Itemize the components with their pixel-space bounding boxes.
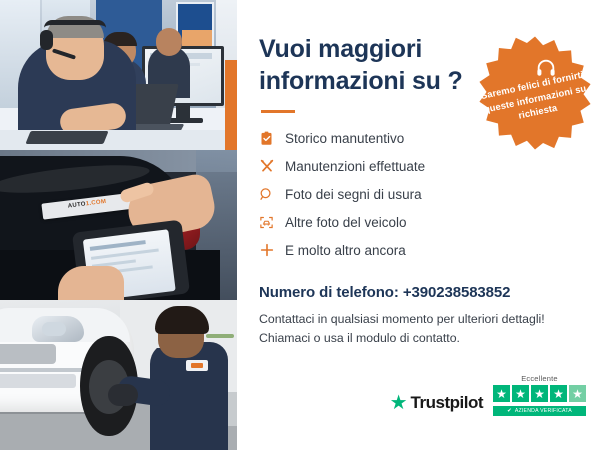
contact-subcopy-line-1: Contattaci in qualsiasi momento per ulte… <box>259 310 578 329</box>
content-panel: Vuoi maggiori informazioni su ? Storico … <box>237 0 600 450</box>
feature-label: Storico manutentivo <box>285 131 404 146</box>
rating-star: ★ <box>512 385 529 402</box>
trustpilot-wordmark: Trustpilot <box>411 393 483 413</box>
magnifier-icon <box>259 187 285 202</box>
clipboard-check-icon <box>259 131 285 146</box>
trustpilot-star-rating: ★ ★ ★ ★ ★ <box>493 385 586 402</box>
rating-star: ★ <box>493 385 510 402</box>
feature-label: Foto dei segni di usura <box>285 187 422 202</box>
rating-star-half: ★ <box>569 385 586 402</box>
feature-item-molto-altro: E molto altro ancora <box>259 236 578 264</box>
feature-label: Manutenzioni effettuate <box>285 159 425 174</box>
photo-frame-car-icon <box>259 215 285 230</box>
trustpilot-logo: ★ Trustpilot <box>390 393 483 416</box>
verified-business-badge: ✔ AZIENDA VERIFICATA <box>493 406 586 416</box>
trustpilot-widget[interactable]: ★ Trustpilot Eccellente ★ ★ ★ ★ ★ ✔ AZIE… <box>390 374 586 416</box>
verified-label: AZIENDA VERIFICATA <box>515 408 572 414</box>
verified-check-icon: ✔ <box>507 408 512 414</box>
title-underline-rule <box>261 110 295 113</box>
rating-star: ★ <box>531 385 548 402</box>
feature-item-manutenzioni-effettuate: Manutenzioni effettuate <box>259 152 578 180</box>
trustpilot-rating-label: Eccellente <box>521 374 558 383</box>
page-title: Vuoi maggiori informazioni su ? <box>259 34 474 97</box>
phone-number-line[interactable]: Numero di telefono: +390238583852 <box>259 284 578 301</box>
trustpilot-rating: Eccellente ★ ★ ★ ★ ★ ✔ AZIENDA VERIFICAT… <box>493 374 586 416</box>
feature-label: E molto altro ancora <box>285 243 406 258</box>
feature-item-foto-segni-usura: Foto dei segni di usura <box>259 180 578 208</box>
plus-icon <box>259 242 285 258</box>
contact-subcopy-line-2: Chiamaci o usa il modulo di contatto. <box>259 329 578 348</box>
rating-star: ★ <box>550 385 567 402</box>
vehicle-inspection-photo: AUTO1.COM <box>0 150 237 300</box>
mechanic-wheel-photo <box>0 300 237 450</box>
promo-card: AUTO1.COM Vuoi maggiori informazioni su … <box>0 0 600 450</box>
feature-item-altre-foto-veicolo: Altre foto del veicolo <box>259 208 578 236</box>
contact-subcopy: Contattaci in qualsiasi momento per ulte… <box>259 310 578 348</box>
callout-badge: Saremo felici di fornirti queste informa… <box>476 34 594 150</box>
photo-column: AUTO1.COM <box>0 0 237 450</box>
call-center-agent-photo <box>0 0 237 150</box>
tools-wrench-icon <box>259 158 285 174</box>
feature-label: Altre foto del veicolo <box>285 215 407 230</box>
trustpilot-star-icon: ★ <box>390 393 408 413</box>
